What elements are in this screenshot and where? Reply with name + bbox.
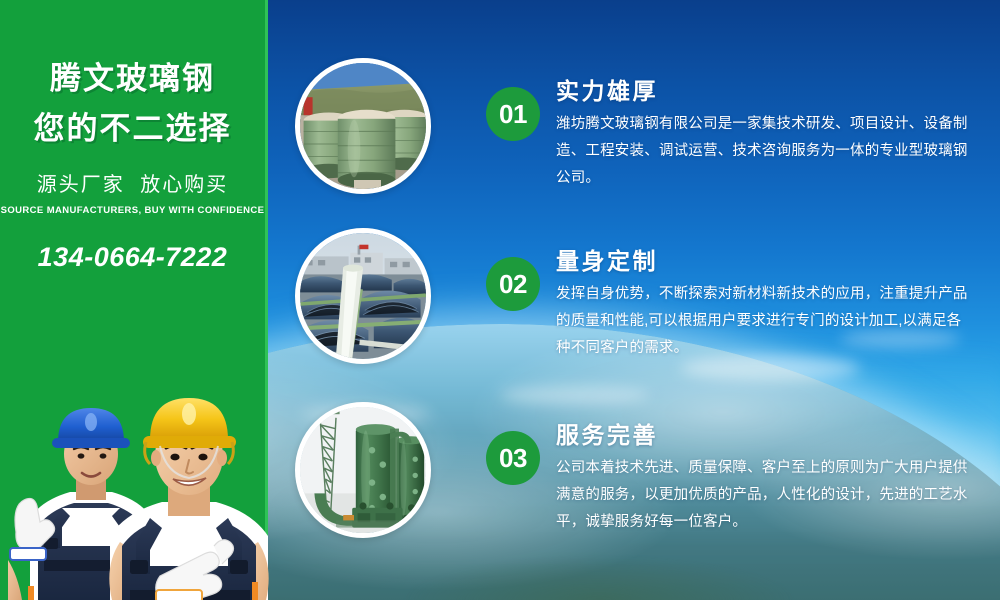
feature-number-badge: 02	[486, 257, 540, 311]
feature-number-badge: 01	[486, 87, 540, 141]
headline-tagline: 源头厂家 放心购买	[0, 168, 265, 197]
feature-image-frp-storage-tanks	[295, 58, 431, 194]
feature-title: 服务完善	[556, 422, 1000, 448]
feature-number-badge: 03	[486, 431, 540, 485]
worker-right	[109, 398, 268, 600]
feature-description: 潍坊腾文玻璃钢有限公司是一家集技术研发、项目设计、设备制造、工程安装、调试运营、…	[556, 111, 976, 192]
headline-company-name: 腾文玻璃钢	[0, 62, 265, 96]
feature-description: 公司本着技术先进、质量保障、客户至上的原则为广大用户提供满意的服务，以更加优质的…	[556, 455, 976, 536]
phone-number[interactable]: 134-0664-7222	[0, 242, 265, 273]
feature-title: 实力雄厚	[556, 78, 1000, 104]
feature-description: 发挥自身优势，不断探索对新材料新技术的应用，注重提升产品的质量和性能,可以根据用…	[556, 281, 976, 362]
feature-item[interactable]: 02 量身定制 发挥自身优势，不断探索对新材料新技术的应用，注重提升产品的质量和…	[295, 228, 1000, 364]
feature-item[interactable]: 01 实力雄厚 潍坊腾文玻璃钢有限公司是一家集技术研发、项目设计、设备制造、工程…	[295, 58, 1000, 194]
feature-image-frp-tank-covers-plant	[295, 228, 431, 364]
promo-banner: 腾文玻璃钢 您的不二选择 源头厂家 放心购买 SOURCE MANUFACTUR…	[0, 0, 1000, 600]
feature-item[interactable]: 03 服务完善 公司本着技术先进、质量保障、客户至上的原则为广大用户提供满意的服…	[295, 402, 1000, 538]
workers-photo	[0, 350, 300, 600]
feature-list: 01 实力雄厚 潍坊腾文玻璃钢有限公司是一家集技术研发、项目设计、设备制造、工程…	[295, 0, 1000, 600]
headline-slogan: 您的不二选择	[0, 112, 265, 146]
subtitle-english: SOURCE MANUFACTURERS, BUY WITH CONFIDENC…	[0, 205, 265, 216]
feature-title: 量身定制	[556, 248, 1000, 274]
feature-image-frp-scrubber-towers	[295, 402, 431, 538]
